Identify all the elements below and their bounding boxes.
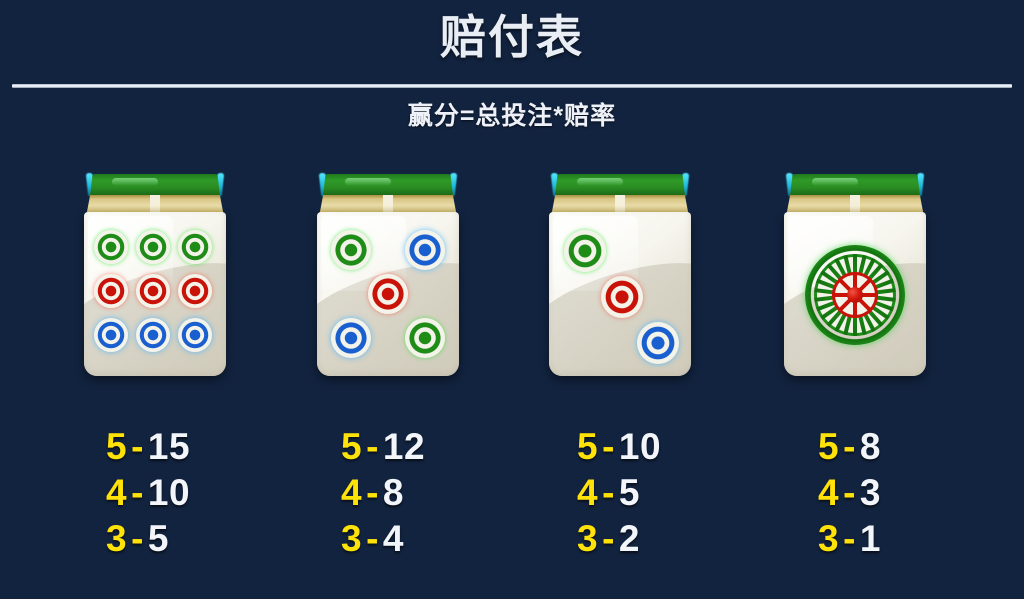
payout-line: 4-5 (577, 470, 767, 516)
payout-column-three-dot: 5-10 4-5 3-2 (577, 424, 767, 562)
payout-odds: 15 (148, 426, 190, 467)
payout-dash: - (598, 472, 619, 513)
payout-formula-text: 赢分=总投注*赔率 (0, 99, 1024, 133)
wheel-hub (847, 287, 863, 303)
payout-odds: 5 (619, 472, 640, 513)
payout-dash: - (839, 426, 860, 467)
payout-dash: - (127, 426, 148, 467)
pip-blue-icon (331, 318, 371, 358)
tile-face-one-dot (784, 212, 926, 376)
pip-blue-icon (405, 230, 445, 270)
payout-line: 5-15 (106, 424, 296, 470)
pip-red-icon (601, 276, 643, 318)
payout-dash: - (839, 518, 860, 559)
payout-count: 4 (818, 472, 839, 513)
symbol-tile-one-dot (784, 172, 926, 376)
payout-line: 3-4 (341, 516, 531, 562)
payout-dash: - (362, 426, 383, 467)
payout-columns: 5-15 4-10 3-5 5-12 4-8 3-4 5-10 4-5 3-2 (0, 424, 1024, 564)
tile-cap-gloss (112, 178, 158, 186)
payout-dash: - (362, 518, 383, 559)
pip-green-icon (331, 230, 371, 270)
payout-count: 3 (818, 518, 839, 559)
pip-red-icon (136, 274, 170, 308)
payout-count: 4 (341, 472, 362, 513)
payout-line: 5-8 (818, 424, 1008, 470)
tile-cap-gloss (345, 178, 391, 186)
pip-green-icon (136, 230, 170, 264)
payout-dash: - (127, 472, 148, 513)
pip-red-icon (368, 274, 408, 314)
payout-odds: 3 (860, 472, 881, 513)
payout-count: 5 (341, 426, 362, 467)
pip-blue-icon (94, 318, 128, 352)
pip-blue-icon (178, 318, 212, 352)
payout-dash: - (598, 426, 619, 467)
tile-cap-gloss (812, 178, 858, 186)
tile-cap-icon (317, 172, 459, 198)
payout-count: 5 (106, 426, 127, 467)
payout-dash: - (127, 518, 148, 559)
tile-cap-green (323, 174, 453, 196)
payout-line: 5-12 (341, 424, 531, 470)
tile-cap-icon (784, 172, 926, 198)
payout-count: 3 (106, 518, 127, 559)
payout-line: 4-10 (106, 470, 296, 516)
payout-odds: 5 (148, 518, 169, 559)
payout-count: 4 (577, 472, 598, 513)
pip-red-icon (94, 274, 128, 308)
payout-line: 3-1 (818, 516, 1008, 562)
tile-cap-icon (549, 172, 691, 198)
payout-odds: 4 (383, 518, 404, 559)
payout-odds: 2 (619, 518, 640, 559)
symbol-tile-three-dot (549, 172, 691, 376)
pip-green-icon (564, 230, 606, 272)
tile-cap-icon (84, 172, 226, 198)
tile-face-nine-dot (84, 212, 226, 376)
pip-red-icon (178, 274, 212, 308)
tile-cap-green (555, 174, 685, 196)
symbol-tile-five-dot (317, 172, 459, 376)
payout-odds: 1 (860, 518, 881, 559)
pip-green-icon (405, 318, 445, 358)
pip-green-icon (178, 230, 212, 264)
payout-column-five-dot: 5-12 4-8 3-4 (341, 424, 531, 562)
payout-odds: 12 (383, 426, 425, 467)
pip-green-icon (94, 230, 128, 264)
payout-line: 4-3 (818, 470, 1008, 516)
pip-blue-icon (136, 318, 170, 352)
payout-odds: 10 (148, 472, 190, 513)
payout-odds: 8 (383, 472, 404, 513)
payout-odds: 10 (619, 426, 661, 467)
payout-line: 3-2 (577, 516, 767, 562)
pip-blue-icon (637, 322, 679, 364)
payout-count: 3 (577, 518, 598, 559)
tile-cap-gloss (577, 178, 623, 186)
tile-cap-green (790, 174, 920, 196)
payout-column-one-dot: 5-8 4-3 3-1 (818, 424, 1008, 562)
symbol-tile-nine-dot (84, 172, 226, 376)
payout-count: 4 (106, 472, 127, 513)
payout-line: 3-5 (106, 516, 296, 562)
payout-column-nine-dot: 5-15 4-10 3-5 (106, 424, 296, 562)
symbol-tiles-row (0, 172, 1024, 382)
payout-odds: 8 (860, 426, 881, 467)
payout-count: 5 (818, 426, 839, 467)
tile-face-five-dot (317, 212, 459, 376)
payout-dash: - (598, 518, 619, 559)
payout-count: 5 (577, 426, 598, 467)
page-title: 赔付表 (0, 8, 1024, 66)
payout-count: 3 (341, 518, 362, 559)
payout-line: 5-10 (577, 424, 767, 470)
pip-one-dot-wheel-icon (805, 245, 905, 345)
payout-dash: - (839, 472, 860, 513)
payout-dash: - (362, 472, 383, 513)
tile-cap-green (90, 174, 220, 196)
payout-line: 4-8 (341, 470, 531, 516)
tile-face-three-dot (549, 212, 691, 376)
title-divider (12, 84, 1012, 88)
